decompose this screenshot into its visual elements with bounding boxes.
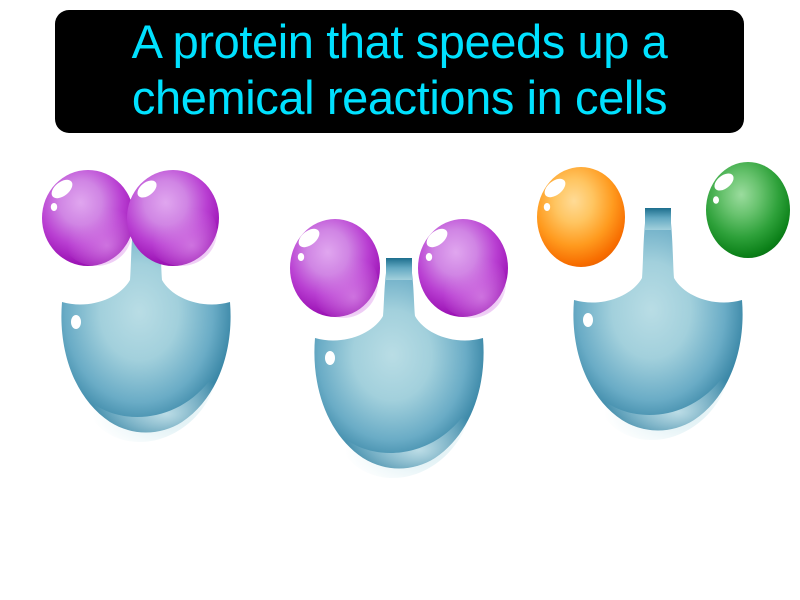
enzyme-highlight-dot-3 [583, 313, 593, 327]
definition-line-1: A protein that speeds up a [132, 14, 668, 70]
enzyme-highlight-dot-1 [71, 315, 81, 329]
enzyme-highlight-dot-2 [325, 351, 335, 365]
product-sphere-orange [537, 167, 625, 267]
specular-dot-icon [544, 203, 550, 211]
stage-3-figure [525, 150, 790, 480]
stage-1-figure [30, 150, 260, 480]
slide-canvas: A protein that speeds up a chemical reac… [0, 0, 800, 600]
enzyme-diagram [0, 150, 800, 480]
specular-dot-icon [298, 253, 304, 261]
reaction-stage-substrates [30, 150, 260, 480]
specular-dot-icon [426, 253, 432, 261]
specular-dot-icon [713, 196, 719, 204]
bound-substrate-2a [287, 216, 383, 320]
substrate-sphere-1b [127, 170, 219, 266]
stage-2-figure [275, 150, 520, 480]
specular-dot-icon [51, 203, 57, 211]
definition-line-2: chemical reactions in cells [132, 70, 667, 126]
definition-banner: A protein that speeds up a chemical reac… [55, 10, 744, 133]
reaction-stage-complex [275, 150, 520, 480]
reaction-stage-products [525, 150, 790, 480]
product-sphere-green [706, 162, 790, 258]
bound-substrate-2b [415, 216, 511, 320]
substrate-sphere-1a [42, 170, 134, 266]
